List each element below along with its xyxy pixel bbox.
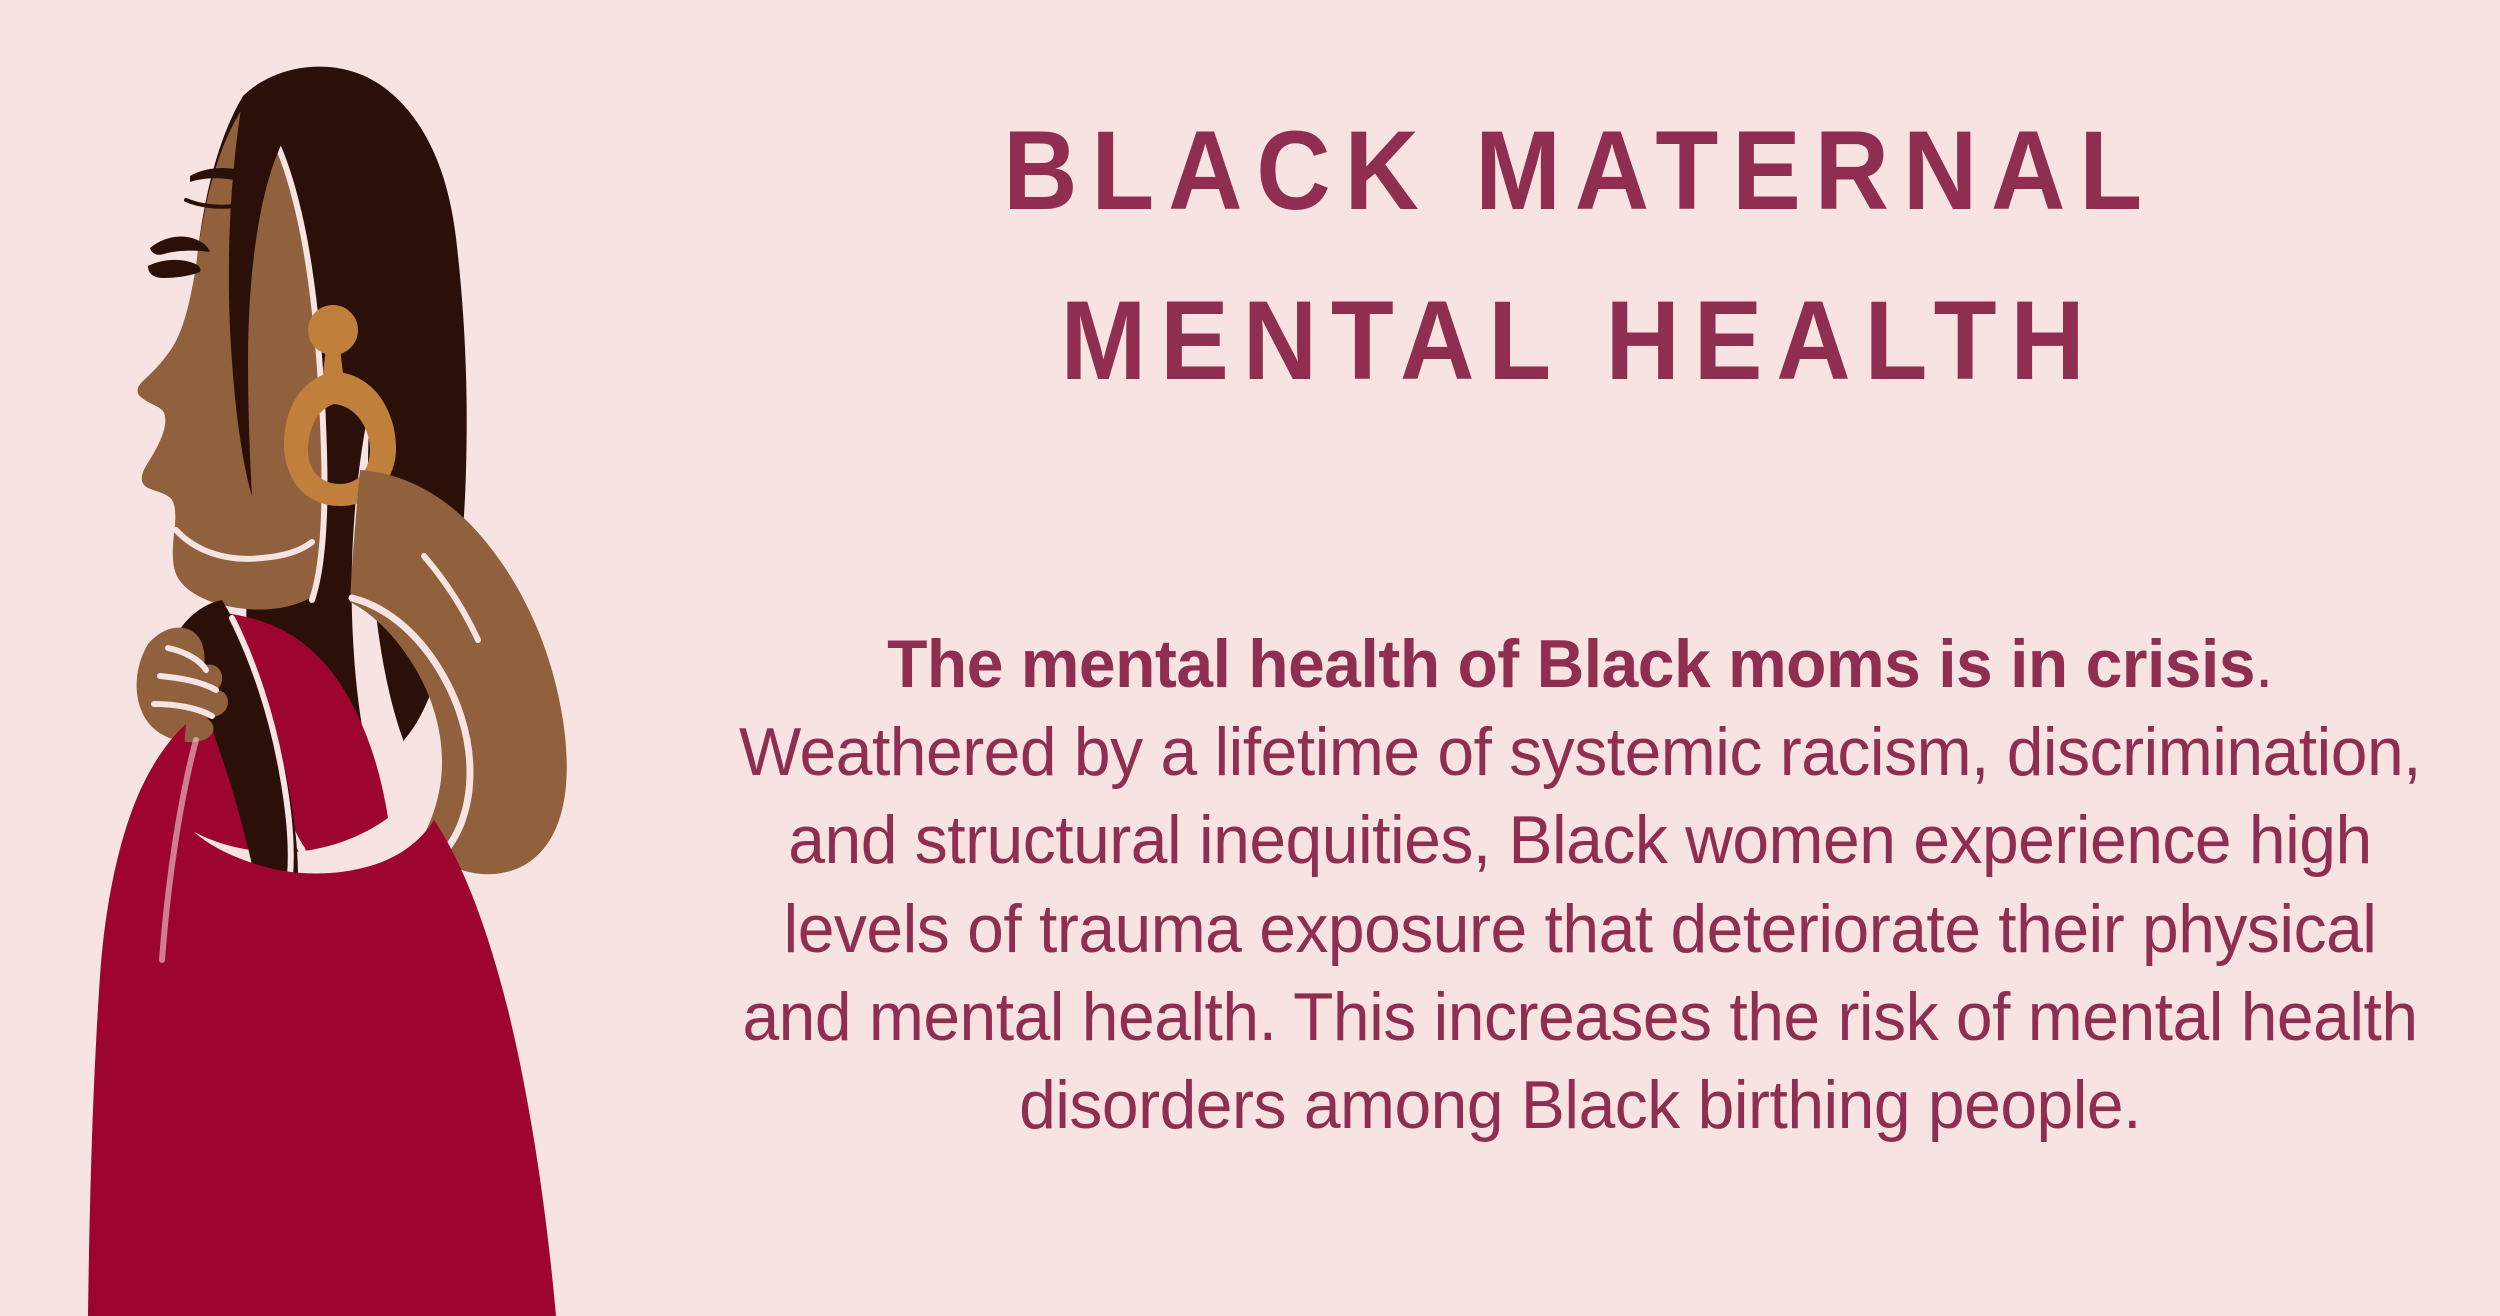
page-title: BLACK MATERNAL MENTAL HEALTH — [1004, 86, 2157, 426]
poster-root: BLACK MATERNAL MENTAL HEALTH The mental … — [0, 0, 2500, 1316]
body-lead-sentence: The mental health of Black moms is in cr… — [887, 626, 2255, 702]
text-column: BLACK MATERNAL MENTAL HEALTH The mental … — [660, 0, 2500, 1316]
earring-stud — [308, 305, 358, 355]
body-paragraph: The mental health of Black moms is in cr… — [726, 620, 2433, 1150]
pregnant-woman-illustration — [0, 0, 700, 1316]
headline-line-1: BLACK MATERNAL — [1004, 86, 2157, 256]
body-rest-text: . Weathered by a lifetime of systemic ra… — [739, 626, 2421, 1144]
headline-line-2: MENTAL HEALTH — [1004, 256, 2157, 426]
